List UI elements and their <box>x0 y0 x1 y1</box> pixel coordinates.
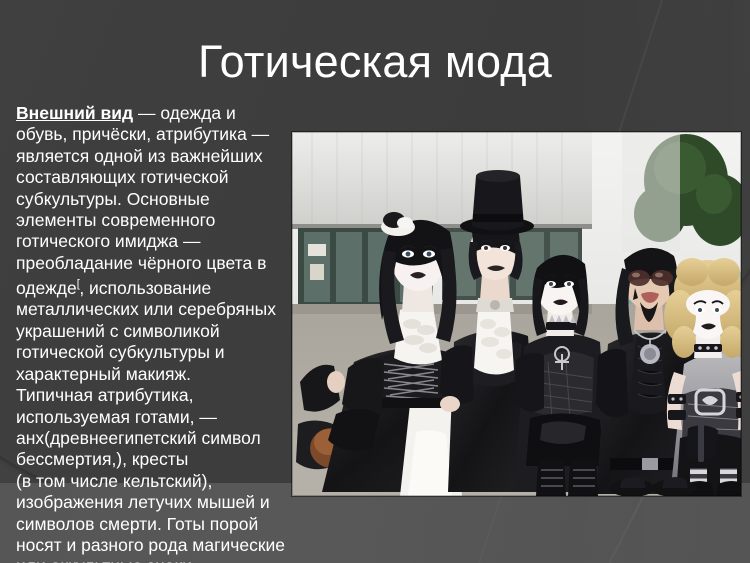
presentation-slide: Готическая мода Внешний вид — одежда и о… <box>0 0 750 563</box>
body-paragraph-5: (в том числе кельтский), изображения лет… <box>16 471 285 563</box>
slide-body-text: Внешний вид — одежда и обувь, причёски, … <box>16 103 288 563</box>
body-lead-term: Внешний вид <box>16 103 133 123</box>
body-paragraph-4: анх(древнеегипетский символ бессмертия,)… <box>16 428 261 469</box>
photo-illustration <box>292 132 741 496</box>
body-paragraph-3: Типичная атрибутика, используемая готами… <box>16 385 217 426</box>
slide-title: Готическая мода <box>0 36 750 88</box>
body-paragraph-1: — одежда и обувь, причёски, атрибутика —… <box>16 103 269 298</box>
goth-subculture-group-photo <box>292 132 741 496</box>
